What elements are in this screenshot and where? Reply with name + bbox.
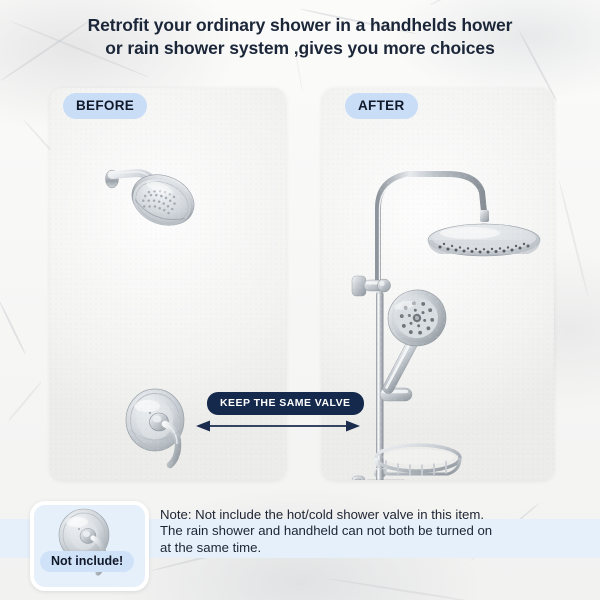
headline: Retrofit your ordinary shower in a handh… [0,14,600,60]
headline-line-2: or rain shower system ,gives you more ch… [0,37,600,60]
note-line-2: The rain shower and handheld can not bot… [160,523,592,539]
note-line-3: at the same time. [160,540,592,556]
not-include-card [30,501,149,591]
double-headed-arrow-icon [196,418,360,434]
headline-line-1: Retrofit your ordinary shower in a handh… [0,14,600,37]
keep-same-valve-badge: KEEP THE SAME VALVE [207,392,364,415]
product-infographic: Retrofit your ordinary shower in a handh… [0,0,600,600]
not-include-chip: Not include! [40,551,134,572]
slide-bar-icon [376,291,384,480]
wall-mount-showerhead-icon [102,160,222,255]
top-bracket-icon [352,276,391,296]
note-line-1: Note: Not include the hot/cold shower va… [160,507,592,523]
chip-before: BEFORE [63,93,147,119]
note-text: Note: Not include the hot/cold shower va… [160,507,592,556]
rain-showerhead-icon [428,210,540,256]
bottom-bracket-icon [352,476,409,480]
chip-after: AFTER [345,93,418,119]
handheld-shower-icon [380,285,451,401]
lower-assembly [322,468,554,480]
soap-dish-icon [374,445,460,477]
